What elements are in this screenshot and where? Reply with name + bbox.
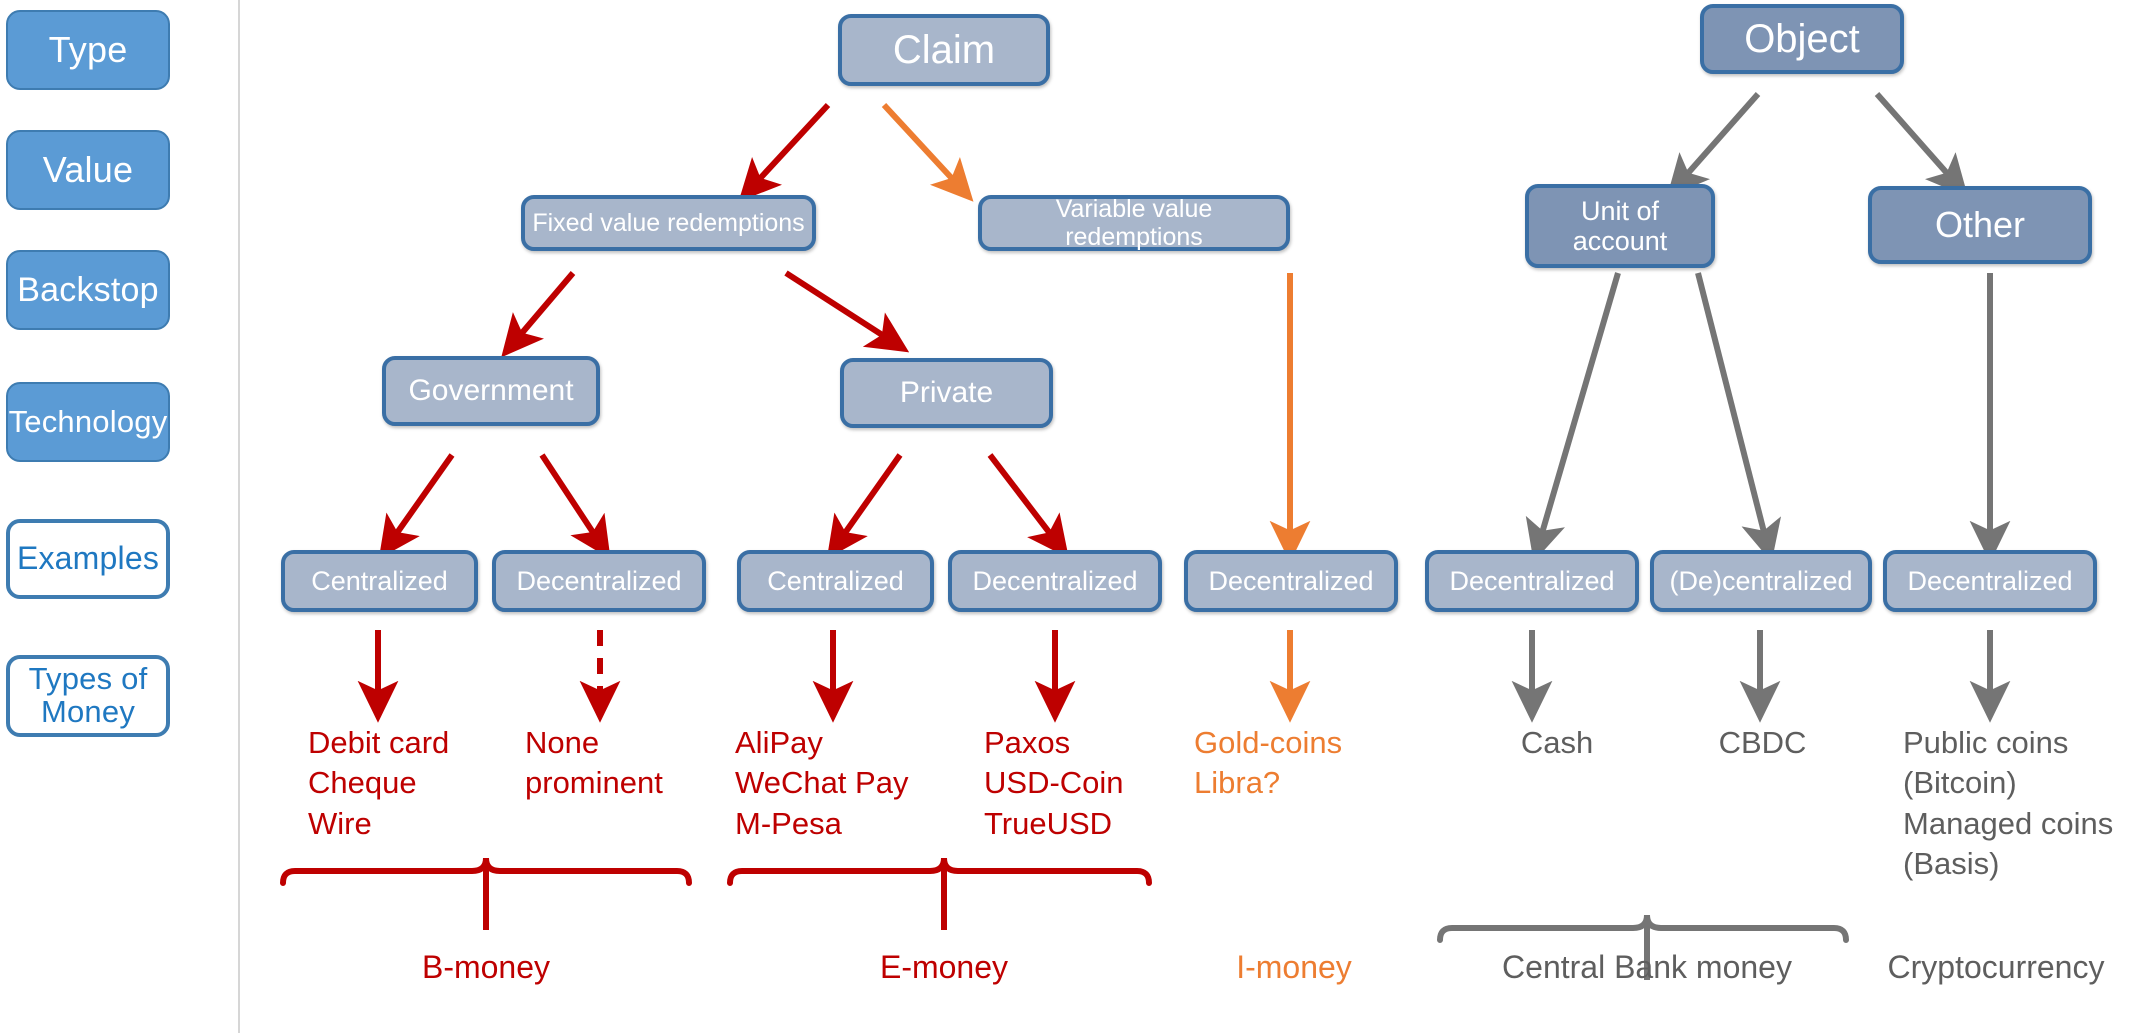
money-type-cryptocurrency: Cryptocurrency — [1856, 950, 2136, 985]
node-tech-priv-decentralized[interactable]: Decentralized — [948, 550, 1162, 612]
example-uoa-decentralized: Cash — [1487, 723, 1627, 763]
node-tech-gov-decentralized[interactable]: Decentralized — [492, 550, 706, 612]
edge-private-to-centralized — [840, 455, 900, 540]
node-tech-uoa-decentralized[interactable]: Decentralized — [1425, 550, 1639, 612]
rail-row-type[interactable]: Type — [6, 10, 170, 90]
node-tech-uoa-de-centralized[interactable]: (De)centralized — [1650, 550, 1872, 612]
edge-object-to-other — [1877, 94, 1953, 180]
node-other[interactable]: Other — [1868, 186, 2092, 264]
edge-claim-to-fixed — [754, 105, 828, 185]
rail-row-value[interactable]: Value — [6, 130, 170, 210]
brace-central-bank-money — [1440, 915, 1846, 940]
edge-unit-to-decentralized — [1540, 273, 1618, 540]
node-object[interactable]: Object — [1700, 4, 1904, 74]
rail-label-backstop: Backstop — [17, 272, 158, 308]
node-claim[interactable]: Claim — [838, 14, 1050, 86]
node-private-label: Private — [900, 376, 993, 410]
edge-fixed-to-government — [516, 273, 573, 340]
node-unit-of-account[interactable]: Unit of account — [1525, 184, 1715, 268]
money-type-i-money: I-money — [1194, 950, 1394, 985]
node-government-label: Government — [408, 374, 573, 408]
edge-fixed-to-private — [786, 273, 890, 340]
connector-layer — [0, 0, 2145, 1033]
rail-row-technology[interactable]: Technology — [6, 382, 170, 462]
money-type-central-bank-money: Central Bank money — [1447, 950, 1847, 985]
node-tech-uoa-de-centralized-label: (De)centralized — [1669, 566, 1852, 596]
node-unit-of-account-label: Unit of account — [1573, 196, 1668, 256]
node-fixed-value-redemptions-label: Fixed value redemptions — [532, 209, 804, 237]
node-other-label: Other — [1935, 205, 2025, 245]
node-tech-gov-decentralized-label: Decentralized — [516, 566, 681, 596]
node-fixed-value-redemptions[interactable]: Fixed value redemptions — [521, 195, 816, 251]
edge-government-to-centralized — [392, 455, 452, 540]
example-priv-decentralized: Paxos USD-Coin TrueUSD — [984, 723, 1224, 844]
money-type-b-money: B-money — [386, 950, 586, 985]
node-claim-label: Claim — [893, 28, 995, 73]
edge-unit-to-de-centralized — [1698, 273, 1766, 540]
brace-e-money — [730, 858, 1149, 883]
node-tech-priv-centralized[interactable]: Centralized — [737, 550, 934, 612]
node-tech-gov-centralized-label: Centralized — [311, 566, 448, 596]
node-object-label: Object — [1744, 17, 1860, 62]
edge-object-to-unit-of-account — [1682, 94, 1758, 180]
example-gov-centralized: Debit card Cheque Wire — [308, 723, 538, 844]
node-tech-other-decentralized-label: Decentralized — [1907, 566, 2072, 596]
rail-label-types-of-money: Types of Money — [29, 663, 148, 729]
brace-b-money — [283, 858, 689, 883]
rail-label-examples: Examples — [17, 542, 159, 576]
edge-government-to-decentralized — [542, 455, 598, 540]
example-gov-decentralized: None prominent — [525, 723, 755, 804]
edge-private-to-decentralized — [990, 455, 1055, 540]
rail-row-backstop[interactable]: Backstop — [6, 250, 170, 330]
node-tech-gov-centralized[interactable]: Centralized — [281, 550, 478, 612]
node-government[interactable]: Government — [382, 356, 600, 426]
rail-row-types-of-money[interactable]: Types of Money — [6, 655, 170, 737]
node-tech-priv-centralized-label: Centralized — [767, 566, 904, 596]
node-tech-variable-decentralized-label: Decentralized — [1208, 566, 1373, 596]
rail-divider — [238, 0, 240, 1033]
rail-label-value: Value — [43, 151, 133, 189]
node-tech-other-decentralized[interactable]: Decentralized — [1883, 550, 2097, 612]
node-tech-uoa-decentralized-label: Decentralized — [1449, 566, 1614, 596]
node-variable-value-redemptions[interactable]: Variable value redemptions — [978, 195, 1290, 251]
rail-label-technology: Technology — [9, 406, 168, 439]
money-type-e-money: E-money — [844, 950, 1044, 985]
diagram-canvas: Type Value Backstop Technology Examples … — [0, 0, 2145, 1033]
node-private[interactable]: Private — [840, 358, 1053, 428]
example-other-decentralized: Public coins (Bitcoin) Managed coins (Ba… — [1903, 723, 2145, 884]
node-tech-variable-decentralized[interactable]: Decentralized — [1184, 550, 1398, 612]
node-tech-priv-decentralized-label: Decentralized — [972, 566, 1137, 596]
example-priv-centralized: AliPay WeChat Pay M-Pesa — [735, 723, 985, 844]
rail-row-examples[interactable]: Examples — [6, 519, 170, 599]
rail-label-type: Type — [49, 31, 128, 69]
node-variable-value-redemptions-label: Variable value redemptions — [988, 195, 1280, 251]
edge-claim-to-variable — [884, 105, 958, 185]
example-uoa-de-centralized: CBDC — [1690, 723, 1835, 763]
example-variable-decentralized: Gold-coins Libra? — [1194, 723, 1424, 804]
